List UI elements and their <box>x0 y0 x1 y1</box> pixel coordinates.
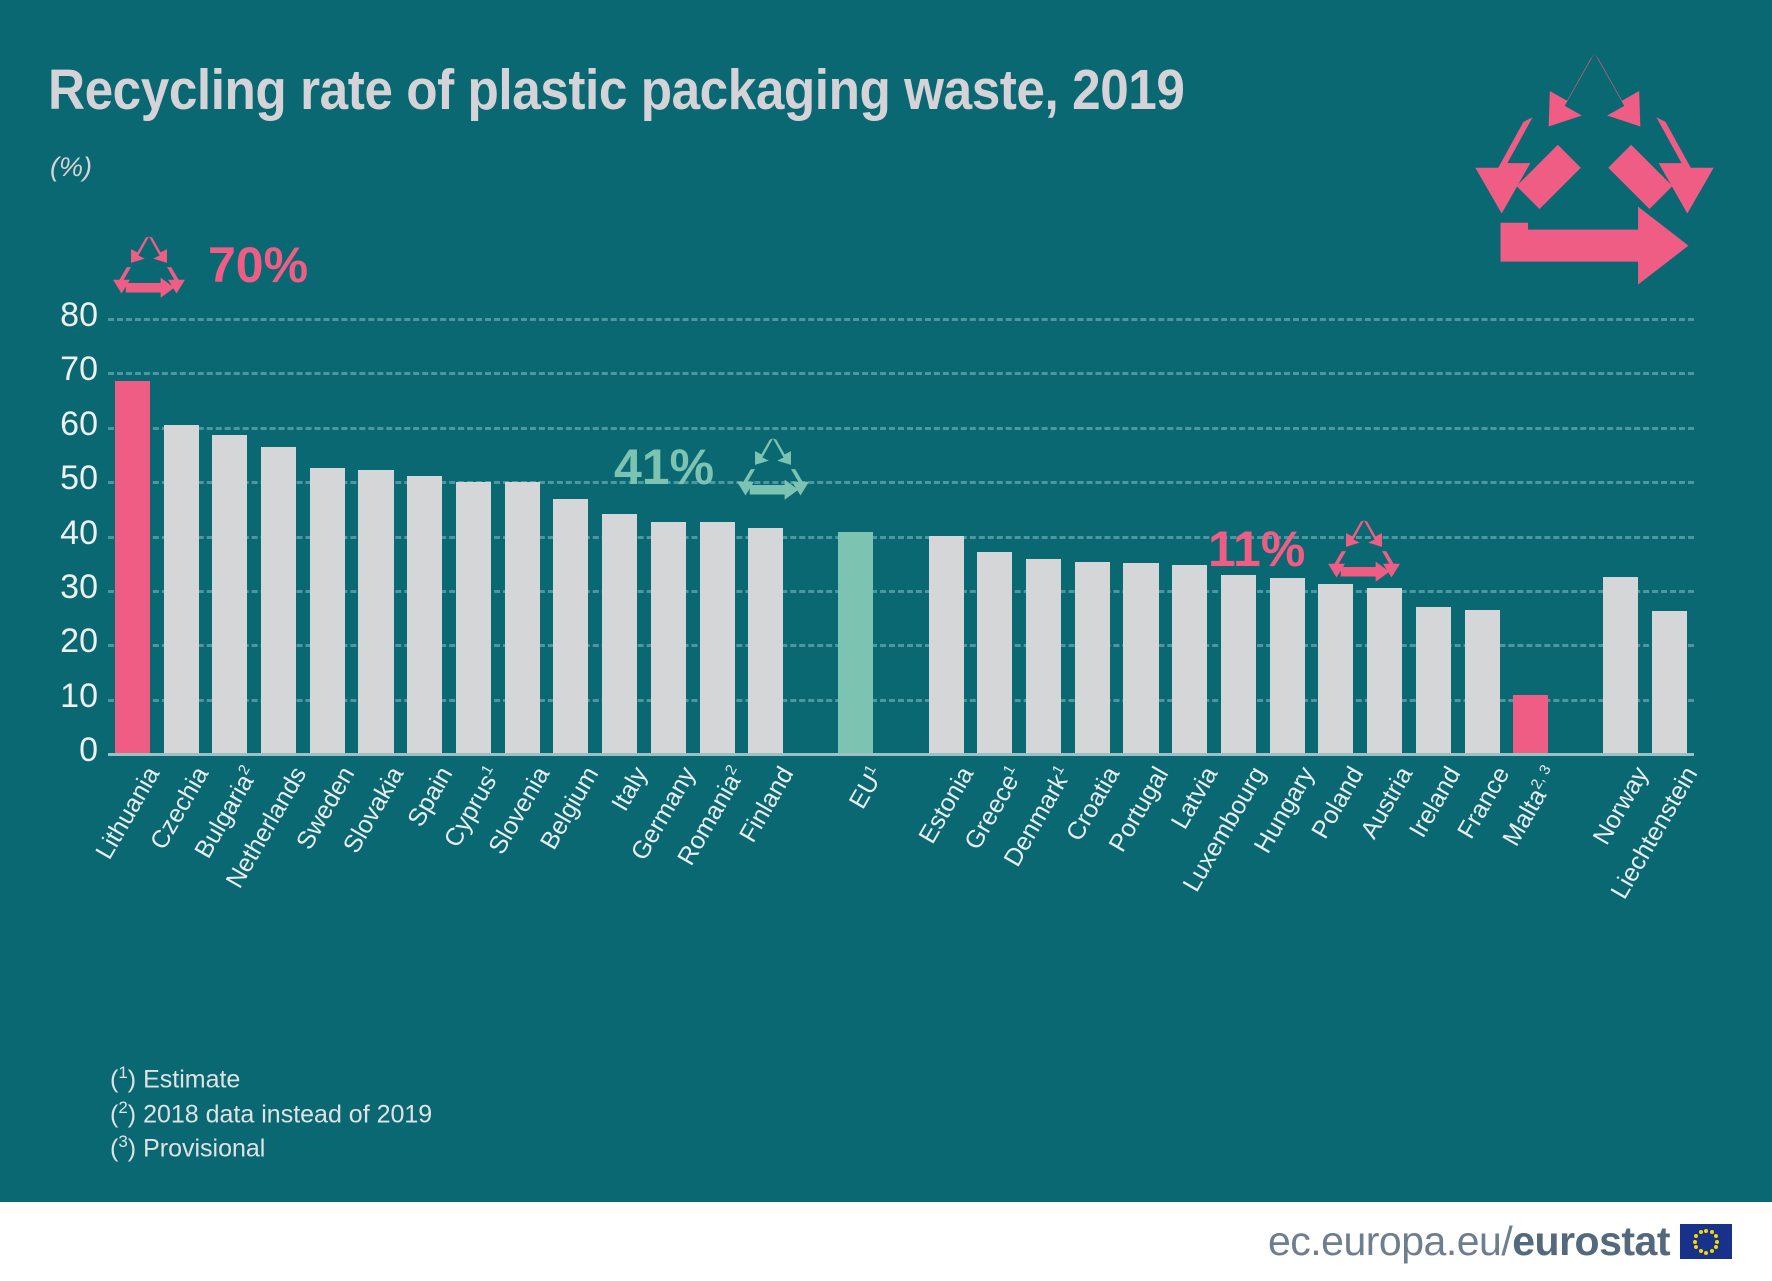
unit-label: (%) <box>50 152 92 183</box>
bar-romania <box>700 522 735 753</box>
footnotes-block: (1) Estimate(2) 2018 data instead of 201… <box>110 1062 432 1166</box>
bar-hungary <box>1270 578 1305 753</box>
eu-flag-icon <box>1680 1224 1732 1259</box>
y-axis-tick-label: 0 <box>28 731 98 770</box>
callout-41-percent: 41% <box>614 434 810 500</box>
bar-estonia <box>929 536 964 754</box>
bar-italy <box>602 514 637 753</box>
recycle-icon <box>1327 516 1401 582</box>
url-prefix: ec.europa.eu/ <box>1268 1218 1512 1264</box>
bar-germany <box>651 522 686 753</box>
bar-poland <box>1318 584 1353 753</box>
bar-croatia <box>1075 562 1110 753</box>
callout-41-value: 41% <box>614 438 714 496</box>
x-label-italy: Italy <box>606 762 654 816</box>
chart-plot-area: 01020304050607080 <box>108 318 1694 753</box>
recycle-icon <box>736 434 810 500</box>
y-axis-tick-label: 50 <box>28 459 98 498</box>
y-axis-tick-label: 30 <box>28 568 98 607</box>
bar-bulgaria <box>212 435 247 753</box>
callout-70-value: 70% <box>208 236 308 294</box>
callout-11-percent: 11% <box>1208 516 1401 582</box>
bar-lithuania <box>115 381 150 753</box>
bar-latvia <box>1172 565 1207 753</box>
bar-malta <box>1513 695 1548 753</box>
x-axis-labels: LithuaniaCzechiaBulgaria2NetherlandsSwed… <box>108 762 1694 952</box>
infographic-canvas: Recycling rate of plastic packaging wast… <box>0 0 1772 1281</box>
eurostat-url[interactable]: ec.europa.eu/eurostat <box>1268 1218 1670 1265</box>
url-bold: eurostat <box>1512 1218 1670 1264</box>
footer-bar: ec.europa.eu/eurostat <box>0 1202 1772 1281</box>
y-axis-tick-label: 70 <box>28 350 98 389</box>
bar-norway <box>1603 577 1638 753</box>
axis-baseline <box>108 753 1694 756</box>
y-axis-tick-label: 20 <box>28 622 98 661</box>
callout-70-percent: 70% <box>112 232 308 298</box>
bar-slovakia <box>358 470 393 753</box>
footnote-1: (1) Estimate <box>110 1062 432 1097</box>
bar-spain <box>407 476 442 753</box>
bar-portugal <box>1123 563 1158 753</box>
bar-cyprus <box>456 482 491 753</box>
bar-ireland <box>1416 607 1451 753</box>
bar-slovenia <box>505 482 540 753</box>
bar-luxembourg <box>1221 575 1256 753</box>
bar-finland <box>748 528 783 753</box>
bar-denmark <box>1026 559 1061 753</box>
footnote-3: (3) Provisional <box>110 1131 432 1166</box>
bar-eu <box>838 532 873 753</box>
y-axis-tick-label: 60 <box>28 405 98 444</box>
bar-greece <box>977 552 1012 753</box>
bar-austria <box>1367 588 1402 753</box>
bar-liechtenstein <box>1652 611 1687 753</box>
page-title: Recycling rate of plastic packaging wast… <box>48 57 1184 123</box>
recycle-icon <box>112 232 186 298</box>
y-axis-tick-label: 80 <box>28 296 98 335</box>
bar-france <box>1465 610 1500 753</box>
footnote-2: (2) 2018 data instead of 2019 <box>110 1097 432 1132</box>
bar-series <box>108 318 1694 753</box>
bar-belgium <box>553 499 588 753</box>
bar-sweden <box>310 468 345 753</box>
x-label-eu: EU1 <box>843 762 890 814</box>
bar-czechia <box>164 425 199 753</box>
y-axis-tick-label: 10 <box>28 677 98 716</box>
y-axis-tick-label: 40 <box>28 514 98 553</box>
callout-11-value: 11% <box>1208 520 1305 578</box>
bar-netherlands <box>261 447 296 753</box>
recycle-logo-large <box>1457 40 1732 300</box>
x-label-lithuania: Lithuania <box>91 762 167 864</box>
